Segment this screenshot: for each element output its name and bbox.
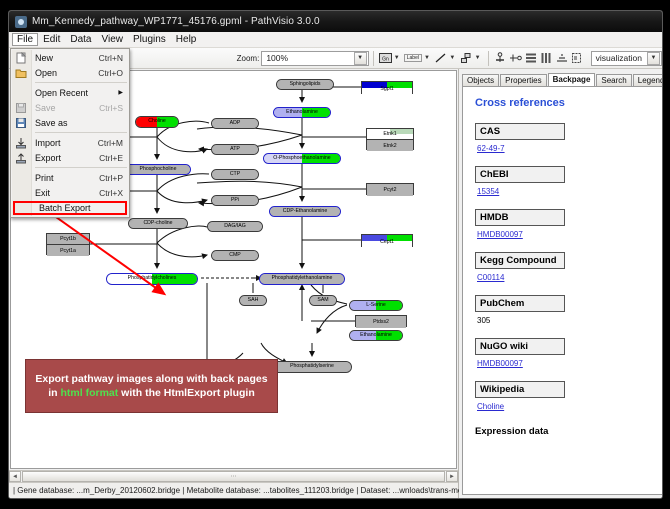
pathway-node-phosphatidylserine[interactable]: Phosphatidylserine [272, 361, 352, 373]
file-menu-item-save-as[interactable]: Save as [11, 115, 129, 130]
tab-legend[interactable]: Legend [633, 74, 663, 86]
scroll-left-arrow[interactable]: ◄ [9, 471, 21, 482]
gene-node-ptdss2[interactable]: Ptdss2 [356, 316, 406, 328]
file-menu-item-label: Export [35, 153, 61, 163]
node-label: Phosphatidylcholines [128, 276, 177, 281]
shape-icon[interactable] [459, 50, 472, 66]
xref-database-chebi: ChEBI [475, 166, 565, 183]
pathway-node-dag-iag[interactable]: DAG/IAG [207, 221, 263, 232]
xref-value-hmdb[interactable]: HMDB00097 [477, 230, 523, 239]
node-label: ADP [230, 121, 241, 126]
visualization-value: visualization [596, 53, 647, 63]
file-menu-item-accelerator: Ctrl+E [99, 153, 123, 163]
status-bar: | Gene database: ...m_Derby_20120602.bri… [9, 482, 458, 498]
menu-divider [35, 82, 127, 83]
group-icon[interactable] [570, 50, 583, 66]
file-menu-item-label: Open Recent [35, 88, 88, 98]
annotation-callout: Export pathway images along with back pa… [25, 359, 278, 413]
gene-label: Pcyt1a [60, 248, 76, 254]
file-menu-item-label: Batch Export [39, 203, 91, 213]
datanode-dropdown-icon[interactable]: ▼ [394, 55, 400, 61]
menu-bar: File Edit Data View Plugins Help [9, 32, 662, 48]
svg-text:Gn: Gn [382, 56, 389, 62]
gene-label: Etnk2 [383, 143, 396, 149]
xref-database-kegg-compound: Kegg Compound [475, 252, 565, 269]
import-icon [15, 137, 27, 149]
node-label: CDP-Ethanolamine [283, 209, 327, 214]
gene-label: Ptdss2 [373, 319, 389, 325]
align-rows-icon[interactable] [524, 50, 537, 66]
xref-value-cas[interactable]: 62-49-7 [477, 144, 505, 153]
pathway-gene-box[interactable]: Ptdss2 [355, 315, 407, 327]
gene-label: Pcyt2 [384, 187, 397, 193]
xref-database-nugo-wiki: NuGO wiki [475, 338, 565, 355]
datanode-icon[interactable]: Gn [378, 50, 391, 66]
zoom-value: 100% [266, 53, 353, 63]
file-menu-item-label: Exit [35, 188, 50, 198]
gene-label: Etnk1 [383, 131, 396, 137]
file-menu-item-open[interactable]: OpenCtrl+O [11, 65, 129, 80]
node-label: Sphingolipids [290, 82, 321, 87]
node-label: DAG/IAG [224, 224, 246, 229]
menu-edit[interactable]: Edit [38, 33, 65, 46]
pathway-gene-box[interactable]: Etnk1Etnk2 [366, 128, 414, 150]
file-menu-item-label: Import [35, 138, 61, 148]
callout-text-after: with the HtmlExport plugin [118, 387, 255, 399]
application-window: Mm_Kennedy_pathway_WP1771_45176.gpml - P… [8, 10, 663, 499]
toolbar-divider-2 [488, 51, 489, 66]
callout-highlight: html format [61, 387, 119, 399]
pathway-node-o-phosphoethanolamine[interactable]: O-Phosphoethanolamine [263, 153, 341, 164]
zoom-label: Zoom: [237, 54, 260, 63]
gene-node-pcyt2[interactable]: Pcyt2 [367, 184, 413, 196]
pathvisio-icon [15, 16, 27, 28]
gene-label: Sgpl1 [380, 86, 393, 92]
backpage-content: Cross references CAS62-49-7ChEBI15354HMD… [462, 86, 663, 495]
node-label: L-Serine [366, 303, 386, 308]
tab-objects[interactable]: Objects [462, 74, 499, 86]
xref-value-kegg-compound[interactable]: C00114 [477, 273, 504, 282]
file-menu-item-label: Open [35, 68, 57, 78]
pathway-gene-box[interactable]: Pcyt1bPcyt1a [46, 233, 90, 255]
file-menu-item-accelerator: Ctrl+S [99, 103, 123, 113]
new-document-icon [15, 52, 27, 64]
node-label: CDP-choline [143, 221, 172, 226]
file-menu-dropdown[interactable]: NewCtrl+NOpenCtrl+OOpen Recent▶SaveCtrl+… [10, 48, 130, 218]
gene-node-pcyt1a[interactable]: Pcyt1a [47, 245, 89, 256]
file-menu-item-label: New [35, 53, 53, 63]
pathway-node-phosphatidylethanolamine[interactable]: Phosphatidylethanolamine [259, 273, 345, 285]
file-menu-item-print[interactable]: PrintCtrl+P [11, 170, 129, 185]
file-menu-item-batch-export[interactable]: Batch Export [13, 201, 127, 215]
file-menu-item-label: Save [35, 103, 56, 113]
xref-database-wikipedia: Wikipedia [475, 381, 565, 398]
node-label: O-Phosphoethanolamine [273, 156, 330, 161]
node-label: SAH [248, 298, 259, 303]
tab-properties[interactable]: Properties [500, 74, 546, 86]
node-label: Ethanolamine [286, 110, 318, 115]
pathway-node-sphingolipids[interactable]: Sphingolipids [276, 79, 334, 90]
interaction-icon[interactable] [509, 50, 522, 66]
align-columns-icon[interactable] [540, 50, 553, 66]
xref-database-cas: CAS [475, 123, 565, 140]
node-label: ATP [230, 147, 240, 152]
side-panel: Objects Properties Backpage Search Legen… [459, 69, 663, 498]
xref-value-nugo-wiki[interactable]: HMDB00097 [477, 359, 523, 368]
menu-help[interactable]: Help [171, 33, 202, 46]
label-icon[interactable]: Label [404, 50, 422, 66]
pathway-gene-box[interactable]: Pcyt2 [366, 183, 414, 195]
pathway-node-adp[interactable]: ADP [211, 118, 259, 129]
xref-value-chebi[interactable]: 15354 [477, 187, 499, 196]
menu-data[interactable]: Data [65, 33, 96, 46]
visualization-dropdown-icon[interactable]: ▼ [647, 52, 660, 65]
shape-dropdown-icon[interactable]: ▼ [475, 55, 481, 61]
label-dropdown-icon[interactable]: ▼ [424, 55, 430, 61]
file-menu-item-accelerator: Ctrl+O [98, 68, 123, 78]
scroll-thumb[interactable]: ⋯ [22, 471, 445, 482]
submenu-arrow-icon: ▶ [118, 89, 123, 96]
line-icon[interactable] [434, 50, 447, 66]
xref-value-wikipedia[interactable]: Choline [477, 402, 504, 411]
file-menu-item-save: SaveCtrl+S [11, 100, 129, 115]
pathway-node-phosphocholine[interactable]: Phosphocholine [125, 164, 191, 175]
menu-divider [35, 167, 127, 168]
line-dropdown-icon[interactable]: ▼ [449, 55, 455, 61]
expression-data-heading: Expression data [475, 426, 657, 437]
anchor-icon[interactable] [493, 50, 506, 66]
horizontal-scrollbar[interactable]: ◄ ⋯ ► [9, 470, 458, 482]
xref-database-hmdb: HMDB [475, 209, 565, 226]
file-menu-item-open-recent[interactable]: Open Recent▶ [11, 85, 129, 100]
save-as-icon [15, 117, 27, 129]
node-label: Phosphatidylserine [290, 364, 334, 369]
pathway-node-ctp[interactable]: CTP [211, 169, 259, 180]
pathway-node-phosphatidylcholines[interactable]: Phosphatidylcholines [106, 273, 198, 285]
gene-node-etnk2[interactable]: Etnk2 [367, 140, 413, 151]
menu-view[interactable]: View [96, 33, 128, 46]
side-panel-tabs: Objects Properties Backpage Search Legen… [462, 71, 663, 86]
toolbar-divider [373, 51, 374, 66]
node-label: CTP [230, 172, 240, 177]
pathway-node-sam[interactable]: SAM [309, 295, 337, 306]
zoom-combobox[interactable]: 100% ▼ [261, 51, 368, 66]
cross-references-heading: Cross references [475, 97, 657, 109]
cross-reference-list: CAS62-49-7ChEBI15354HMDBHMDB00097Kegg Co… [475, 123, 657, 424]
node-label: Choline [148, 119, 166, 124]
file-menu-item-label: Print [35, 173, 54, 183]
node-label: SAM [317, 298, 328, 303]
stack-icon[interactable] [555, 50, 568, 66]
file-menu-item-new[interactable]: NewCtrl+N [11, 50, 129, 65]
menu-file[interactable]: File [12, 33, 38, 46]
gene-node-pcyt1b[interactable]: Pcyt1b [47, 234, 89, 245]
title-bar: Mm_Kennedy_pathway_WP1771_45176.gpml - P… [9, 11, 662, 32]
node-label: Ethanolamine [360, 333, 392, 338]
tab-search[interactable]: Search [596, 74, 631, 86]
zoom-dropdown-icon[interactable]: ▼ [354, 52, 367, 65]
pathway-gene-box[interactable]: Cept1 [361, 234, 413, 247]
gene-node-etnk1[interactable]: Etnk1 [367, 129, 413, 140]
file-menu-item-accelerator: Ctrl+N [99, 53, 123, 63]
pathway-node-ethanolamine[interactable]: Ethanolamine [349, 330, 403, 341]
gene-node-sgpl1[interactable]: Sgpl1 [362, 82, 412, 95]
pathway-node-choline[interactable]: Choline [135, 116, 179, 128]
node-label: PPi [231, 198, 239, 203]
open-folder-icon [15, 67, 27, 79]
pathway-node-cdp-choline[interactable]: CDP-choline [128, 218, 188, 229]
scroll-right-arrow[interactable]: ► [446, 471, 458, 482]
xref-database-pubchem: PubChem [475, 295, 565, 312]
screenshot-root: Mm_Kennedy_pathway_WP1771_45176.gpml - P… [0, 0, 670, 509]
menu-plugins[interactable]: Plugins [128, 33, 171, 46]
pathway-node-sah[interactable]: SAH [239, 295, 267, 306]
tab-backpage[interactable]: Backpage [548, 73, 596, 86]
file-menu-item-accelerator: Ctrl+M [98, 138, 123, 148]
file-menu-item-import[interactable]: ImportCtrl+M [11, 135, 129, 150]
pathway-node-ethanolamine[interactable]: Ethanolamine [273, 107, 331, 118]
file-menu-item-accelerator: Ctrl+X [99, 188, 123, 198]
node-label: CMP [229, 253, 241, 258]
pathway-gene-box[interactable]: Sgpl1 [361, 81, 413, 94]
file-menu-item-accelerator: Ctrl+P [99, 173, 123, 183]
pathway-node-atp[interactable]: ATP [211, 144, 259, 155]
menu-divider [35, 132, 127, 133]
save-disk-icon [15, 102, 27, 114]
pathway-node-ppi[interactable]: PPi [211, 195, 259, 206]
file-menu-item-label: Save as [35, 118, 68, 128]
node-label: Phosphatidylethanolamine [272, 276, 333, 281]
node-label: Phosphocholine [140, 167, 177, 172]
gene-node-cept1[interactable]: Cept1 [362, 235, 412, 248]
pathway-node-cdp-ethanolamine[interactable]: CDP-Ethanolamine [269, 206, 341, 217]
visualization-combobox[interactable]: visualization ▼ [591, 51, 662, 66]
export-icon [15, 152, 27, 164]
window-title: Mm_Kennedy_pathway_WP1771_45176.gpml - P… [32, 16, 320, 27]
gene-label: Pcyt1b [60, 236, 76, 242]
pathway-node-cmp[interactable]: CMP [211, 250, 259, 261]
file-menu-item-exit[interactable]: ExitCtrl+X [11, 185, 129, 200]
pathway-node-l-serine[interactable]: L-Serine [349, 300, 403, 311]
gene-label: Cept1 [380, 239, 394, 245]
xref-value-pubchem: 305 [477, 316, 490, 325]
file-menu-item-export[interactable]: ExportCtrl+E [11, 150, 129, 165]
